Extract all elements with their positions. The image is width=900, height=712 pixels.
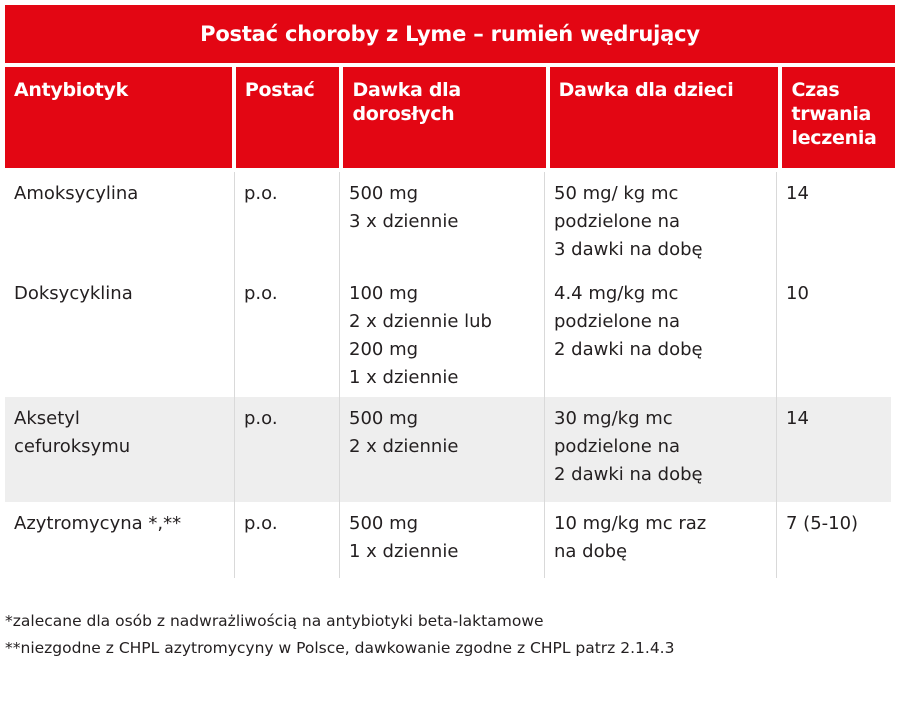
column-header-adult-dose: Dawka dla dorosłych <box>343 67 545 168</box>
cell-child-dose: 50 mg/ kg mc podzielone na 3 dawki na do… <box>545 172 777 272</box>
cell-child-dose: 4.4 mg/kg mc podzielone na 2 dawki na do… <box>545 272 777 397</box>
column-header-duration: Czas trwania leczenia <box>782 67 895 168</box>
cell-adult-dose: 100 mg 2 x dziennie lub 200 mg 1 x dzien… <box>340 272 545 397</box>
cell-adult-dose: 500 mg 3 x dziennie <box>340 172 545 272</box>
table-title-band: Postać choroby z Lyme – rumień wędrujący <box>5 5 895 63</box>
cell-antibiotic: Aksetyl cefuroksymu <box>5 397 235 502</box>
footnote-double-asterisk: **niezgodne z CHPL azytromycyny w Polsce… <box>5 635 895 662</box>
cell-duration: 14 <box>777 397 891 502</box>
page-title: Postać choroby z Lyme – rumień wędrujący <box>200 22 700 46</box>
cell-antibiotic: Amoksycylina <box>5 172 235 272</box>
cell-antibiotic: Doksycyklina <box>5 272 235 397</box>
column-header-form: Postać <box>236 67 340 168</box>
cell-antibiotic: Azytromycyna *,** <box>5 502 235 578</box>
table-row: Doksycyklina p.o. 100 mg 2 x dziennie lu… <box>5 272 895 397</box>
lyme-treatment-table-page: Postać choroby z Lyme – rumień wędrujący… <box>0 0 900 712</box>
cell-form: p.o. <box>235 272 340 397</box>
cell-child-dose: 10 mg/kg mc raz na dobę <box>545 502 777 578</box>
table-row: Aksetyl cefuroksymu p.o. 500 mg 2 x dzie… <box>5 397 895 502</box>
cell-adult-dose: 500 mg 1 x dziennie <box>340 502 545 578</box>
cell-duration: 7 (5-10) <box>777 502 891 578</box>
footnote-single-asterisk: *zalecane dla osób z nadwrażliwością na … <box>5 608 895 635</box>
table-row: Amoksycylina p.o. 500 mg 3 x dziennie 50… <box>5 172 895 272</box>
cell-form: p.o. <box>235 502 340 578</box>
column-header-antibiotic: Antybiotyk <box>5 67 232 168</box>
cell-form: p.o. <box>235 172 340 272</box>
cell-duration: 10 <box>777 272 891 397</box>
column-header-child-dose: Dawka dla dzieci <box>550 67 779 168</box>
table-row: Azytromycyna *,** p.o. 500 mg 1 x dzienn… <box>5 502 895 578</box>
cell-adult-dose: 500 mg 2 x dziennie <box>340 397 545 502</box>
cell-duration: 14 <box>777 172 891 272</box>
table-header-row: Antybiotyk Postać Dawka dla dorosłych Da… <box>5 67 895 168</box>
table-body: Amoksycylina p.o. 500 mg 3 x dziennie 50… <box>5 172 895 578</box>
cell-form: p.o. <box>235 397 340 502</box>
cell-child-dose: 30 mg/kg mc podzielone na 2 dawki na dob… <box>545 397 777 502</box>
footnotes: *zalecane dla osób z nadwrażliwością na … <box>5 608 895 662</box>
